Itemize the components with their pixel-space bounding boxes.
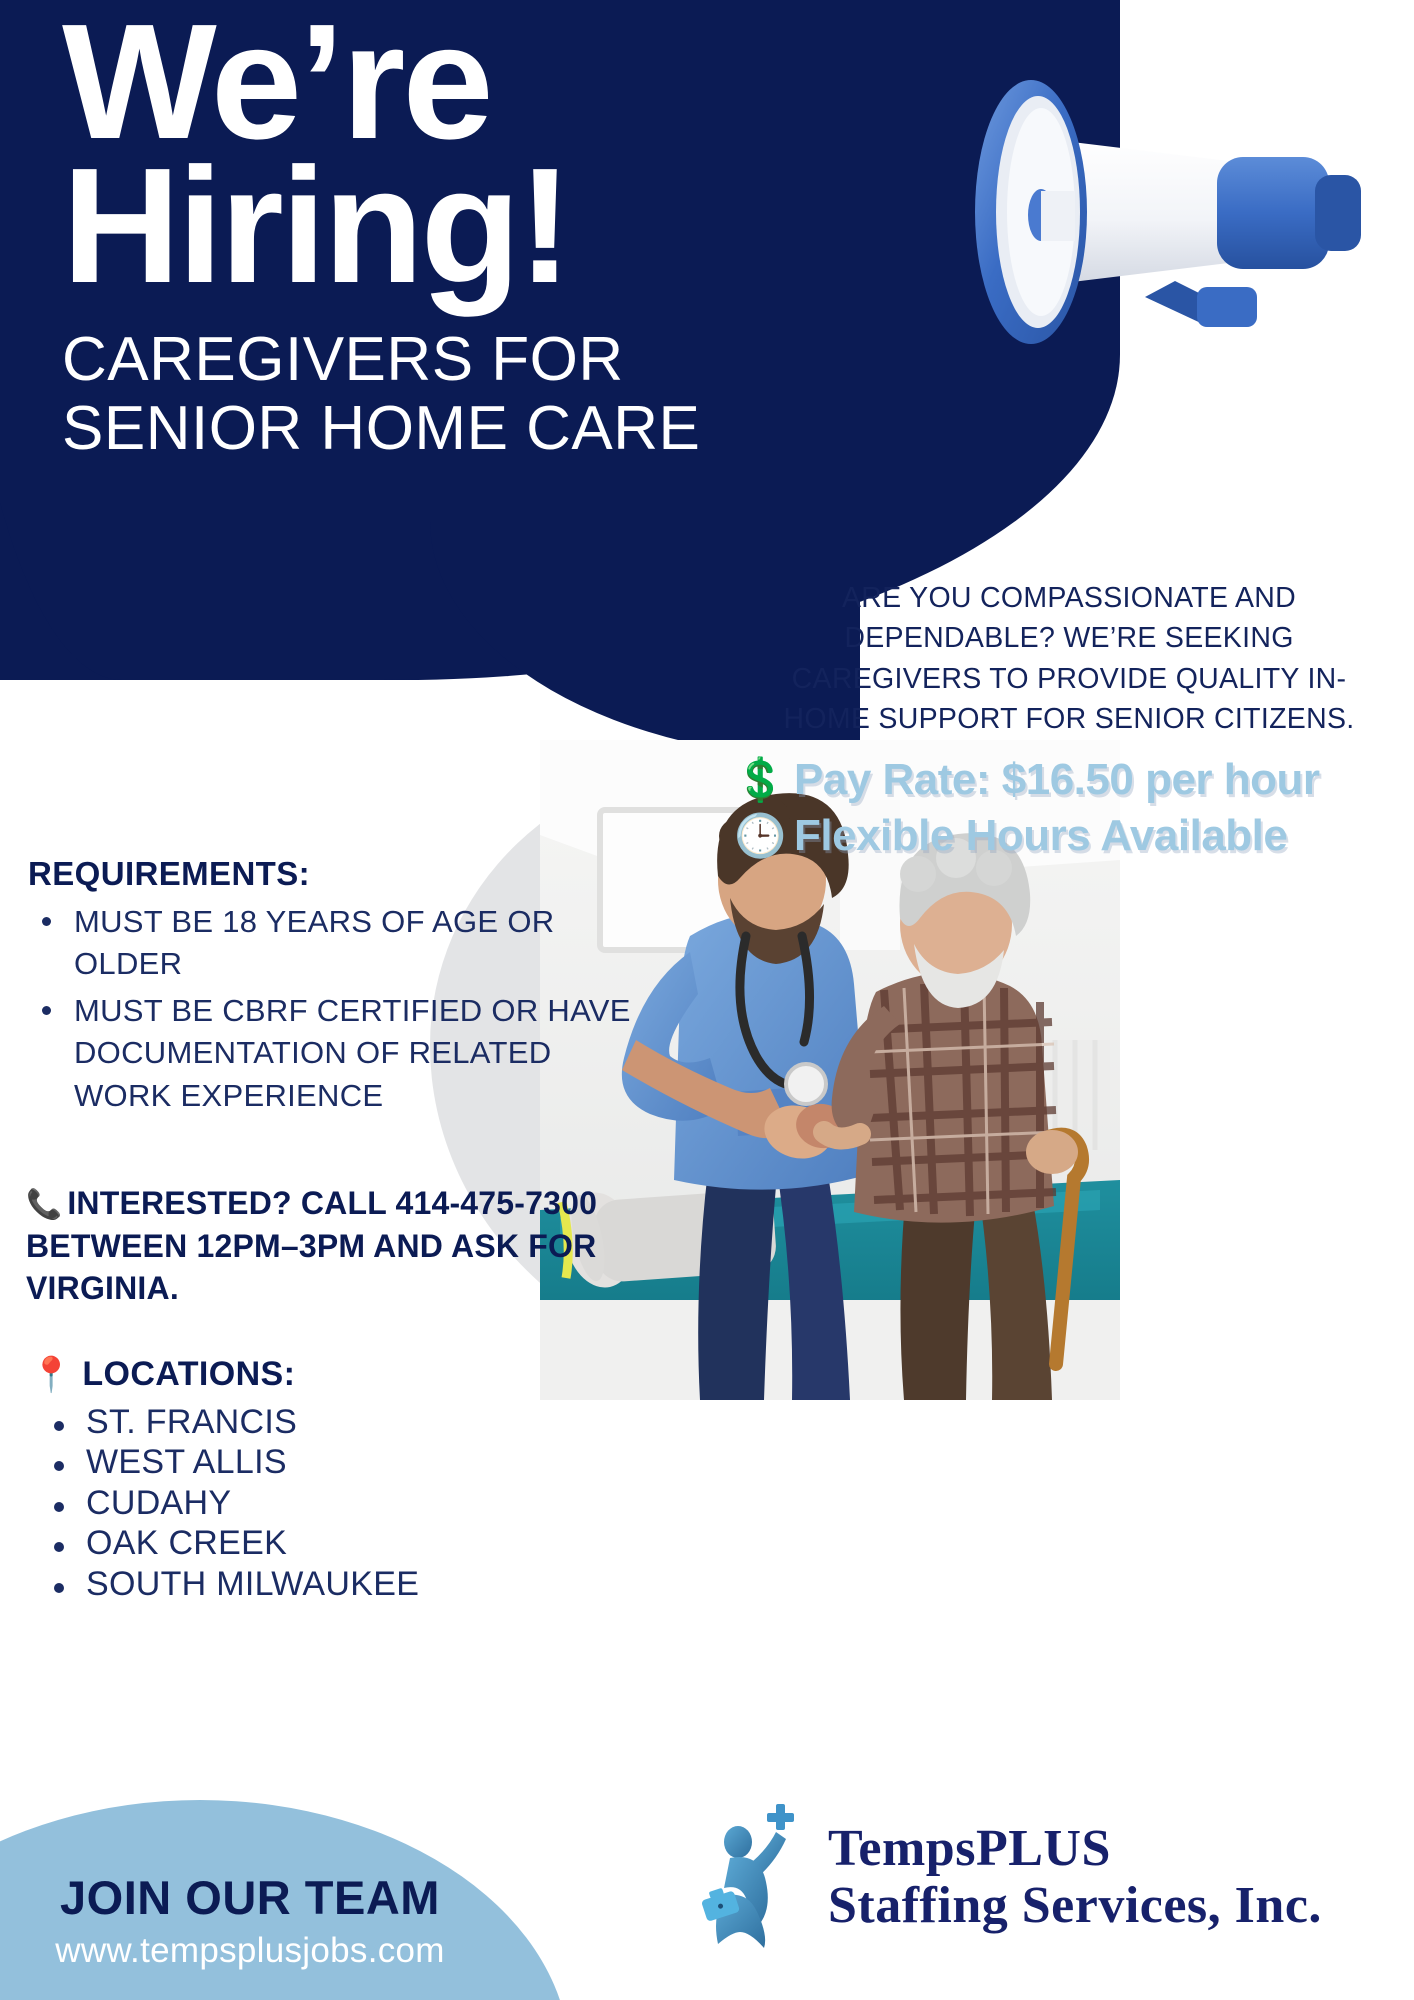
highlight-row-hours: 🕒 Flexible Hours Available: [734, 811, 1394, 861]
footer-cta: JOIN OUR TEAM www.tempsplusjobs.com: [0, 1870, 500, 1971]
contact-line-2: BETWEEN 12PM–3PM AND ASK FOR: [26, 1225, 666, 1268]
pay-rate-text: Pay Rate: $16.50 per hour: [794, 755, 1320, 805]
requirements-section: REQUIREMENTS: MUST BE 18 YEARS OF AGE OR…: [28, 855, 648, 1122]
list-item: MUST BE 18 YEARS OF AGE OR OLDER: [28, 901, 648, 985]
requirements-title: REQUIREMENTS:: [28, 855, 648, 893]
headline-line-1: We’re: [62, 10, 782, 154]
list-item: MUST BE CBRF CERTIFIED OR HAVE DOCUMENTA…: [28, 990, 648, 1116]
contact-call-text: INTERESTED? CALL 414-475-7300: [67, 1185, 597, 1221]
list-item: SOUTH MILWAUKEE: [30, 1564, 630, 1604]
phone-icon: 📞: [26, 1189, 62, 1221]
location-pin-icon: 📍: [30, 1358, 72, 1392]
requirements-list: MUST BE 18 YEARS OF AGE OR OLDER MUST BE…: [28, 901, 648, 1117]
locations-header: 📍 LOCATIONS:: [30, 1355, 630, 1394]
contact-line-1: 📞INTERESTED? CALL 414-475-7300: [26, 1182, 666, 1225]
logo-line-2: Staffing Services, Inc.: [828, 1878, 1322, 1934]
headline-group: We’re Hiring! CAREGIVERS FOR SENIOR HOME…: [62, 10, 782, 464]
intro-paragraph: ARE YOU COMPASSIONATE AND DEPENDABLE? WE…: [749, 578, 1389, 740]
list-item: WEST ALLIS: [30, 1442, 630, 1482]
subhead-line-2: SENIOR HOME CARE: [62, 394, 782, 463]
logo-line-1: TempsPLUS: [828, 1821, 1322, 1877]
company-logo: TempsPLUS Staffing Services, Inc.: [700, 1800, 1322, 1955]
subhead-line-1: CAREGIVERS FOR: [62, 325, 782, 394]
locations-title: LOCATIONS:: [82, 1355, 295, 1394]
hiring-flyer: We’re Hiring! CAREGIVERS FOR SENIOR HOME…: [0, 0, 1414, 2000]
website-url[interactable]: www.tempsplusjobs.com: [0, 1931, 500, 1971]
highlight-row-pay: 💲 Pay Rate: $16.50 per hour: [734, 755, 1394, 805]
headline-line-2: Hiring!: [62, 154, 782, 298]
logo-text: TempsPLUS Staffing Services, Inc.: [828, 1821, 1322, 1933]
list-item: OAK CREEK: [30, 1523, 630, 1563]
contact-section[interactable]: 📞INTERESTED? CALL 414-475-7300 BETWEEN 1…: [26, 1182, 666, 1310]
clock-icon: 🕒: [734, 815, 780, 857]
locations-list: ST. FRANCIS WEST ALLIS CUDAHY OAK CREEK …: [30, 1402, 630, 1604]
highlights-group: 💲 Pay Rate: $16.50 per hour 🕒 Flexible H…: [734, 755, 1394, 867]
person-with-briefcase-icon: [700, 1800, 810, 1955]
locations-section: 📍 LOCATIONS: ST. FRANCIS WEST ALLIS CUDA…: [30, 1355, 630, 1604]
flexible-hours-text: Flexible Hours Available: [794, 811, 1287, 861]
join-our-team-label: JOIN OUR TEAM: [0, 1870, 500, 1925]
contact-line-3: VIRGINIA.: [26, 1267, 666, 1310]
megaphone-icon: [845, 25, 1405, 365]
money-icon: 💲: [734, 759, 780, 801]
list-item: CUDAHY: [30, 1483, 630, 1523]
list-item: ST. FRANCIS: [30, 1402, 630, 1442]
